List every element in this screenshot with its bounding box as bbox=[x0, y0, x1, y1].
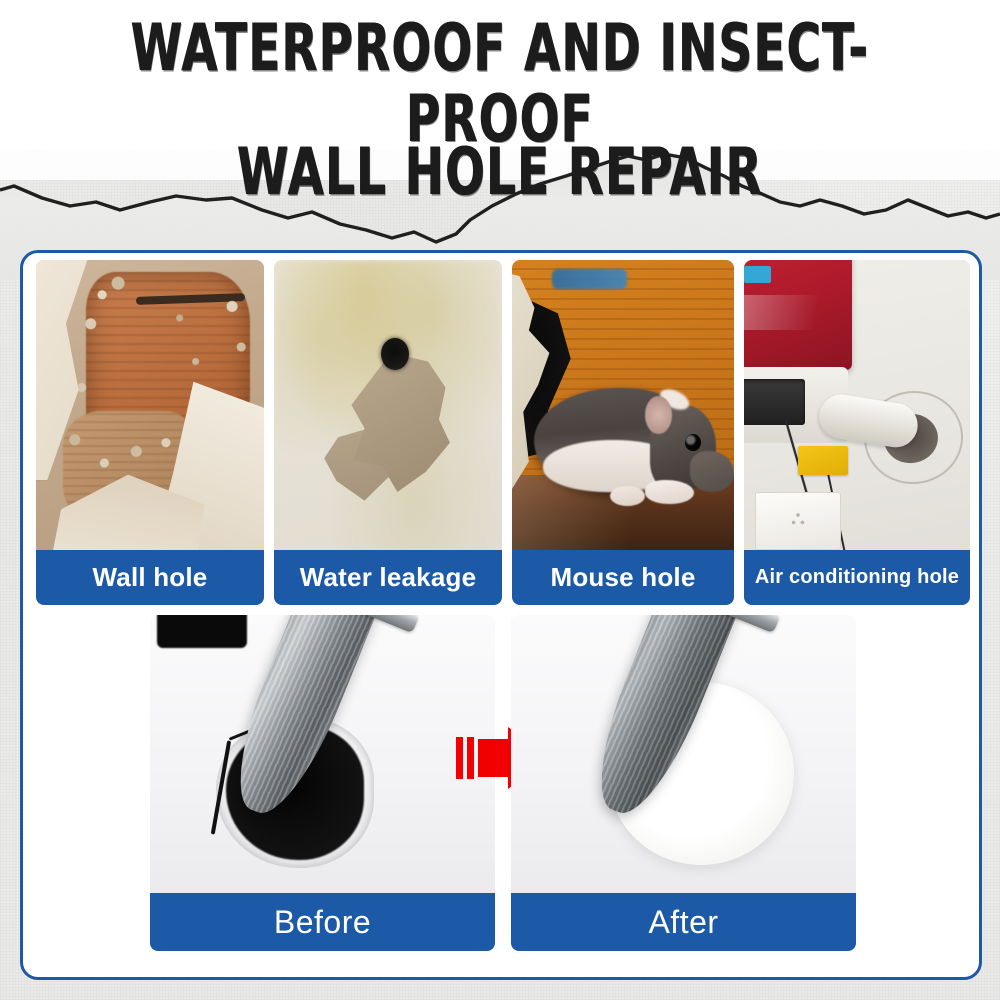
card-label-before: Before bbox=[150, 893, 495, 951]
card-air-conditioning-hole[interactable]: Air conditioning hole bbox=[744, 260, 970, 605]
arrow-slot bbox=[495, 615, 511, 893]
card-wall-hole[interactable]: Wall hole bbox=[36, 260, 264, 605]
title-line-1: WATERPROOF AND INSECT-PROOF bbox=[60, 14, 940, 156]
poster-root: WATERPROOF AND INSECT-PROOF WALL HOLE RE… bbox=[0, 0, 1000, 1000]
before-after-row: Before After bbox=[150, 615, 856, 960]
photo-mouse-hole bbox=[512, 260, 734, 550]
title-line-2: WALL HOLE REPAIR bbox=[60, 138, 940, 209]
card-after[interactable]: After bbox=[511, 615, 856, 951]
card-water-leakage[interactable]: Water leakage bbox=[274, 260, 502, 605]
card-label-after: After bbox=[511, 893, 856, 951]
card-label-mouse-hole: Mouse hole bbox=[512, 550, 734, 605]
card-label-wall-hole: Wall hole bbox=[36, 550, 264, 605]
card-label-air-conditioning-hole: Air conditioning hole bbox=[744, 550, 970, 605]
photo-wall-hole bbox=[36, 260, 264, 550]
page-title: WATERPROOF AND INSECT-PROOF WALL HOLE RE… bbox=[0, 14, 1000, 196]
card-mouse-hole[interactable]: Mouse hole bbox=[512, 260, 734, 605]
photo-after bbox=[511, 615, 856, 893]
problem-cards-row: Wall hole Water leakage bbox=[36, 260, 970, 605]
card-before[interactable]: Before bbox=[150, 615, 495, 951]
photo-water-leakage bbox=[274, 260, 502, 550]
photo-air-conditioning-hole bbox=[744, 260, 970, 550]
photo-before bbox=[150, 615, 495, 893]
blue-rounded-frame: Wall hole Water leakage bbox=[20, 250, 982, 980]
card-label-water-leakage: Water leakage bbox=[274, 550, 502, 605]
